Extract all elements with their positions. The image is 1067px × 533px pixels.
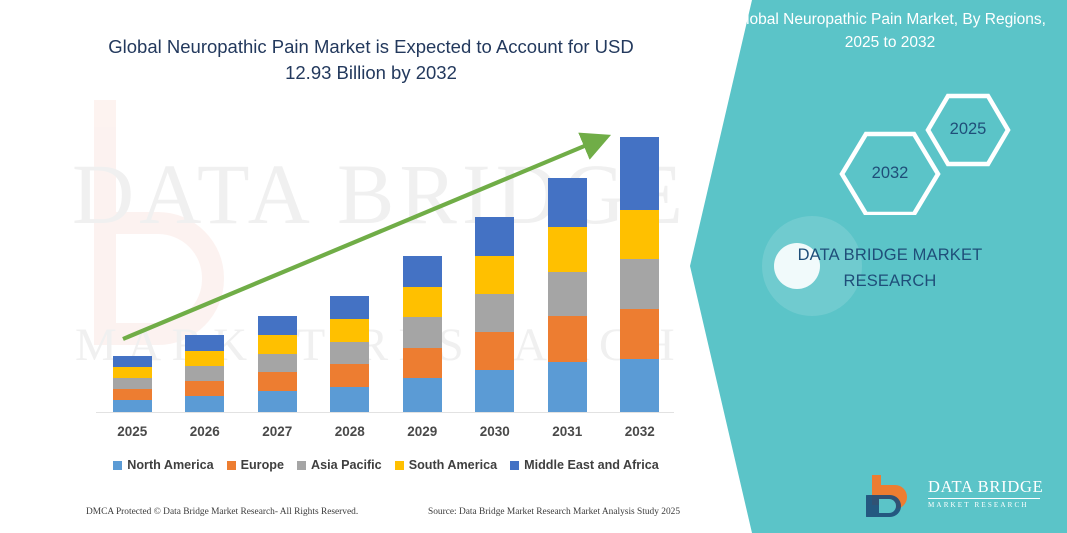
bar-column[interactable] [258,316,297,413]
footer: DMCA Protected © Data Bridge Market Rese… [0,507,700,527]
plot-area [96,120,676,413]
bar-segment[interactable] [620,210,659,259]
bar-segment[interactable] [475,217,514,256]
bar-segment[interactable] [185,351,224,366]
bar-segment[interactable] [403,348,442,378]
brand-panel: Global Neuropathic Pain Market, By Regio… [690,0,1067,533]
bar-column[interactable] [620,137,659,413]
x-axis-label: 2032 [605,424,675,439]
bar-column[interactable] [185,335,224,413]
legend-swatch [113,461,122,470]
bar-segment[interactable] [403,378,442,413]
brand-line-1: DATA BRIDGE MARKET [740,243,1040,269]
bar-segment[interactable] [475,256,514,294]
bar-segment[interactable] [475,294,514,332]
bar-segment[interactable] [185,366,224,381]
bar-segment[interactable] [620,137,659,210]
x-axis-label: 2027 [242,424,312,439]
company-logo: DATA BRIDGE MARKET RESEARCH [866,473,1046,521]
bar-column[interactable] [475,217,514,413]
bar-segment[interactable] [330,387,369,413]
bar-segment[interactable] [113,378,152,389]
bar-segment[interactable] [258,354,297,373]
page-title: Global Neuropathic Pain Market is Expect… [86,34,656,87]
bar-segment[interactable] [113,367,152,378]
brand-line-2: RESEARCH [740,269,1040,295]
bar-segment[interactable] [548,272,587,317]
bar-column[interactable] [403,256,442,413]
bar-segment[interactable] [185,381,224,396]
legend-item[interactable]: Middle East and Africa [510,458,659,472]
bar-segment[interactable] [330,296,369,319]
bar-column[interactable] [113,356,152,413]
bar-column[interactable] [330,296,369,413]
bar-segment[interactable] [113,389,152,400]
logo-name: DATA BRIDGE [928,477,1046,497]
logo-text: DATA BRIDGE MARKET RESEARCH [928,477,1046,509]
bar-segment[interactable] [258,335,297,354]
legend-swatch [395,461,404,470]
x-axis-label: 2029 [387,424,457,439]
bar-segment[interactable] [403,317,442,348]
bar-segment[interactable] [330,319,369,342]
legend-label: North America [127,458,213,472]
bar-segment[interactable] [403,287,442,317]
bar-segment[interactable] [548,227,587,272]
bar-segment[interactable] [620,259,659,309]
bar-segment[interactable] [620,359,659,413]
bar-segment[interactable] [475,370,514,413]
bar-segment[interactable] [185,396,224,414]
bar-segment[interactable] [258,391,297,413]
bar-column[interactable] [548,178,587,413]
footer-source: Source: Data Bridge Market Research Mark… [428,507,680,517]
legend-label: Asia Pacific [311,458,382,472]
hexagon-group: 2025 2032 [800,90,1030,215]
brand-name: DATA BRIDGE MARKET RESEARCH [740,243,1040,294]
bar-segment[interactable] [330,364,369,387]
legend-item[interactable]: Europe [227,458,284,472]
x-axis-label: 2030 [460,424,530,439]
brand-panel-title: Global Neuropathic Pain Market, By Regio… [730,8,1050,55]
footer-copyright: DMCA Protected © Data Bridge Market Rese… [86,507,358,517]
legend-item[interactable]: North America [113,458,213,472]
legend-label: Middle East and Africa [524,458,659,472]
logo-tagline: MARKET RESEARCH [928,501,1046,509]
x-axis-label: 2028 [315,424,385,439]
legend-swatch [510,461,519,470]
chart-panel: DATA BRIDGE MARKET RESEARCH Global Neuro… [0,0,760,533]
legend-item[interactable]: South America [395,458,497,472]
bar-segment[interactable] [403,256,442,287]
x-axis-label: 2025 [97,424,167,439]
legend-label: South America [409,458,497,472]
bar-segment[interactable] [475,332,514,370]
hexagon-label-2025: 2025 [938,120,998,139]
hexagon-label-2032: 2032 [860,164,920,183]
hexagon-shapes [800,90,1030,215]
x-axis-label: 2026 [170,424,240,439]
legend-item[interactable]: Asia Pacific [297,458,382,472]
chart-legend: North AmericaEuropeAsia PacificSouth Ame… [96,455,676,475]
bar-segment[interactable] [330,342,369,364]
legend-swatch [297,461,306,470]
x-axis-label: 2031 [532,424,602,439]
legend-swatch [227,461,236,470]
bar-segment[interactable] [258,372,297,391]
bar-segment[interactable] [113,356,152,367]
infographic-root: DATA BRIDGE MARKET RESEARCH Global Neuro… [0,0,1067,533]
bar-segment[interactable] [185,335,224,351]
x-axis-labels: 20252026202720282029203020312032 [96,424,676,444]
logo-divider [928,498,1040,499]
bar-segment[interactable] [548,362,587,413]
logo-mark-icon [866,473,924,521]
x-axis-line [96,412,674,413]
bar-segment[interactable] [548,178,587,227]
legend-label: Europe [241,458,284,472]
bar-segment[interactable] [258,316,297,335]
bar-segment[interactable] [620,309,659,359]
bar-segment[interactable] [548,316,587,362]
